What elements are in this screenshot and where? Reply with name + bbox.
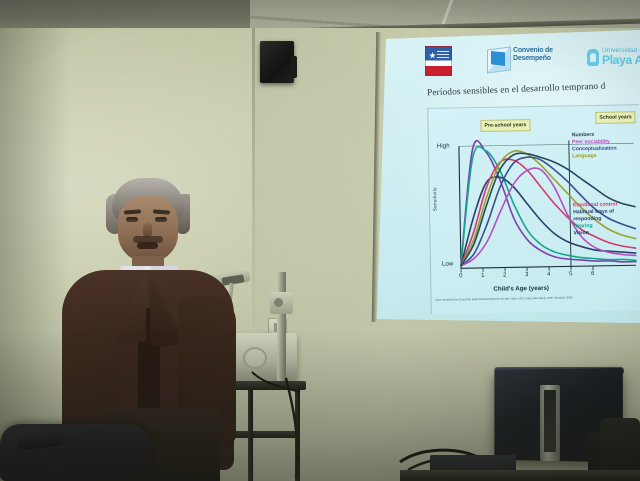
chart-panel: High Low Sensitivity Child's Age (years)…	[427, 104, 640, 314]
x-axis-title: Child's Age (years)	[493, 285, 549, 293]
slide-title: Períodos sensibles en el desarrollo temp…	[427, 80, 640, 99]
nose	[143, 223, 152, 237]
lecture-room-screenshot: Convenio de Desempeño Universidad de Pla…	[0, 0, 640, 481]
convenio-line1: Convenio de	[513, 47, 553, 55]
x-tick-2: 2	[503, 273, 506, 279]
slide-logo-row: Convenio de Desempeño Universidad de Pla…	[425, 42, 640, 76]
school-years-tag: School years	[595, 111, 636, 124]
x-tick-1: 1	[481, 273, 484, 279]
x-tick-6: 6	[591, 271, 594, 277]
mouth	[137, 242, 158, 249]
y-axis-low-label: Low	[442, 260, 453, 267]
y-axis-high-label: High	[437, 142, 450, 149]
universidad-de-playa-ancha-logo: Universidad de Playa Ancha	[587, 44, 640, 74]
y-axis-title: Sensitivity	[432, 187, 437, 211]
gov-logo-text-block	[437, 51, 449, 60]
eye-right	[155, 217, 167, 222]
eye-left	[126, 217, 138, 222]
x-tick-5: 5	[569, 271, 572, 277]
wall-speaker	[260, 41, 294, 83]
wall-corner	[252, 28, 255, 328]
x-tick-0: 0	[459, 273, 462, 279]
shield-icon	[587, 49, 599, 66]
pre-school-years-tag: Pre-school years	[480, 119, 530, 132]
legend-item-vision: Vision	[573, 230, 589, 237]
chart-inner: High Low Sensitivity Child's Age (years)…	[428, 105, 640, 314]
gobierno-de-chile-logo	[425, 46, 452, 76]
upa-line2: Playa Ancha	[602, 54, 640, 67]
star-icon	[429, 52, 436, 59]
convenio-de-desempeno-logo	[487, 46, 511, 72]
pole-knob	[274, 298, 283, 307]
convenio-logo-label: Convenio de Desempeño	[513, 47, 553, 63]
wall-speaker-side	[291, 56, 297, 78]
floor-shading	[0, 331, 640, 481]
presentation-slide: Convenio de Desempeño Universidad de Pla…	[377, 30, 640, 323]
x-tick-3: 3	[525, 272, 528, 278]
legend-item-language: Language	[572, 153, 597, 160]
convenio-line2: Desempeño	[513, 55, 553, 63]
x-tick-4: 4	[547, 272, 550, 278]
